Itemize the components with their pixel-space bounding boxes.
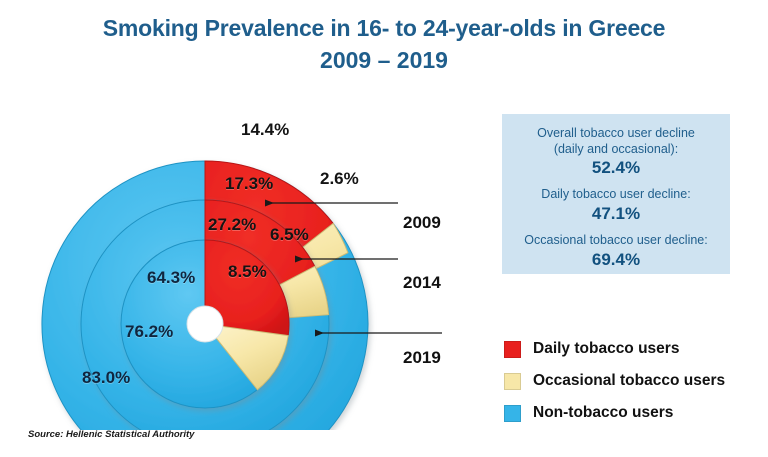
legend-label-daily: Daily tobacco users	[533, 340, 679, 358]
label-middle-occasional: 6.5%	[270, 225, 309, 245]
chart-legend: Daily tobacco users Occasional tobacco u…	[504, 333, 754, 429]
legend-label-non-tobacco: Non-tobacco users	[533, 404, 673, 422]
source-note: Source: Hellenic Statistical Authority	[28, 429, 194, 440]
info-group-daily: Daily tobacco user decline: 47.1%	[502, 187, 730, 224]
info-caption-overall-line2: (daily and occasional):	[502, 142, 730, 158]
year-label-2014: 2014	[403, 273, 441, 293]
info-group-occasional: Occasional tobacco user decline: 69.4%	[502, 233, 730, 270]
legend-swatch-daily-icon	[504, 341, 521, 358]
label-outer-daily: 14.4%	[241, 120, 289, 140]
info-caption-occasional: Occasional tobacco user decline:	[502, 233, 730, 249]
info-value-occasional: 69.4%	[502, 250, 730, 270]
info-group-overall: Overall tobacco user decline (daily and …	[502, 126, 730, 178]
legend-item-non-tobacco: Non-tobacco users	[504, 397, 754, 429]
donut-center-hole	[187, 306, 223, 342]
year-label-2009: 2009	[403, 213, 441, 233]
label-middle-daily: 17.3%	[225, 174, 273, 194]
summary-info-box: Overall tobacco user decline (daily and …	[502, 114, 730, 274]
chart-page: Smoking Prevalence in 16- to 24-year-old…	[0, 0, 768, 457]
label-inner-non-tobacco: 64.3%	[147, 268, 195, 288]
info-value-overall: 52.4%	[502, 158, 730, 178]
info-caption-daily: Daily tobacco user decline:	[502, 187, 730, 203]
legend-item-daily: Daily tobacco users	[504, 333, 754, 365]
label-inner-occasional: 8.5%	[228, 262, 267, 282]
title-line-1: Smoking Prevalence in 16- to 24-year-old…	[0, 14, 768, 43]
legend-swatch-occasional-icon	[504, 373, 521, 390]
label-outer-occasional: 2.6%	[320, 169, 359, 189]
label-outer-non-tobacco: 83.0%	[82, 368, 130, 388]
year-label-2019: 2019	[403, 348, 441, 368]
title-line-2: 2009 – 2019	[0, 46, 768, 75]
label-middle-non-tobacco: 76.2%	[125, 322, 173, 342]
legend-label-occasional: Occasional tobacco users	[533, 372, 725, 390]
info-value-daily: 47.1%	[502, 204, 730, 224]
label-inner-daily: 27.2%	[208, 215, 256, 235]
legend-item-occasional: Occasional tobacco users	[504, 365, 754, 397]
page-title: Smoking Prevalence in 16- to 24-year-old…	[0, 14, 768, 75]
info-caption-overall-line1: Overall tobacco user decline	[502, 126, 730, 142]
legend-swatch-non-tobacco-icon	[504, 405, 521, 422]
concentric-donut-chart: 14.4% 2.6% 83.0% 17.3% 6.5% 76.2% 27.2% …	[30, 80, 390, 430]
